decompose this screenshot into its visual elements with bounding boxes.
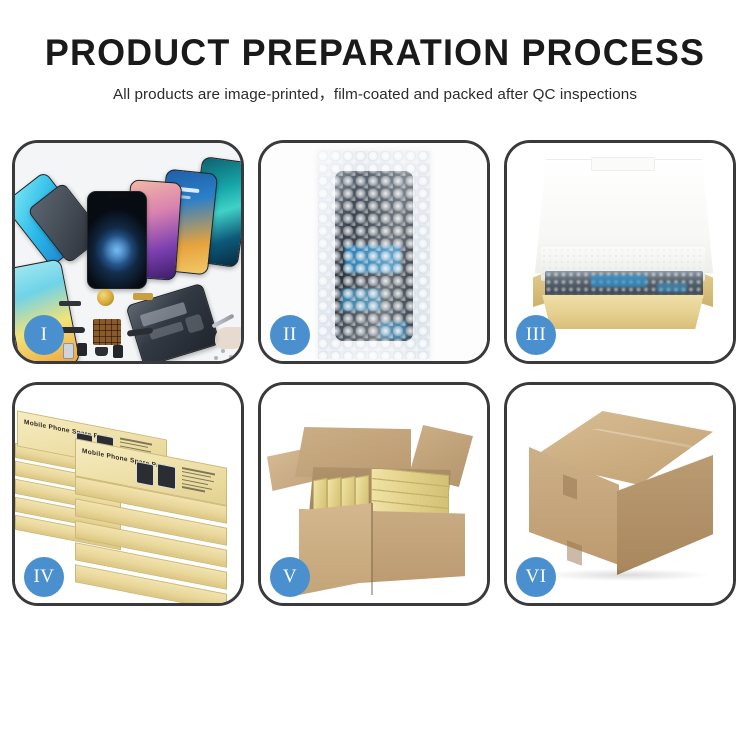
step-badge-6: VI [516,557,556,597]
box-screen-graphic-2b [157,463,176,490]
page-title: PRODUCT PREPARATION PROCESS [11,34,739,73]
process-step-panel-5[interactable]: V [258,382,490,606]
part-adhesive-strip [59,301,81,306]
part-chip-2 [113,345,123,358]
board-trace-2 [149,321,184,340]
step-badge-3: III [516,315,556,355]
plastic-sheen-overlay [318,151,430,359]
technician-hand [215,327,241,349]
step-badge-2: II [270,315,310,355]
box-front-panel [537,295,709,329]
carton-body-left [299,503,373,595]
part-flex-connector [133,293,153,300]
boxed-product-blue-film-1 [591,275,647,287]
process-step-grid: I II [12,140,738,606]
process-step-panel-6[interactable]: VI [504,382,736,606]
step-badge-4: IV [24,557,64,597]
carton-drop-shadow [543,569,709,581]
phone-dark-jellyfish-screen [87,191,147,289]
process-step-panel-3[interactable]: III [504,140,736,364]
boxed-product-blue-film-2 [657,283,687,292]
part-screw-1 [221,349,225,353]
carton-corner-edge [371,503,373,595]
step-badge-5: V [270,557,310,597]
part-sim-tray [63,343,74,359]
part-chip-1 [77,343,87,356]
part-screw-3 [214,356,218,360]
part-mesh-grid [93,319,121,345]
page-subtitle: All products are image-printed，film-coat… [0,82,750,104]
step-badge-1: I [24,315,64,355]
part-screw-2 [229,355,233,359]
page-header: PRODUCT PREPARATION PROCESS All products… [0,0,750,104]
process-step-panel-1[interactable]: I [12,140,244,364]
process-step-panel-2[interactable]: II [258,140,490,364]
phone-screen-glow [94,227,140,273]
box-screen-graphic-2a [136,461,154,486]
box-lid-tab [591,157,655,171]
bubble-wrap-package [318,151,430,359]
board-chip [185,314,205,334]
part-speaker-coil [97,289,114,306]
process-step-panel-4[interactable]: Mobile Phone Spare Parts Mobile Phone Sp… [12,382,244,606]
part-speaker-module [95,347,108,356]
phone-notch [106,194,128,198]
